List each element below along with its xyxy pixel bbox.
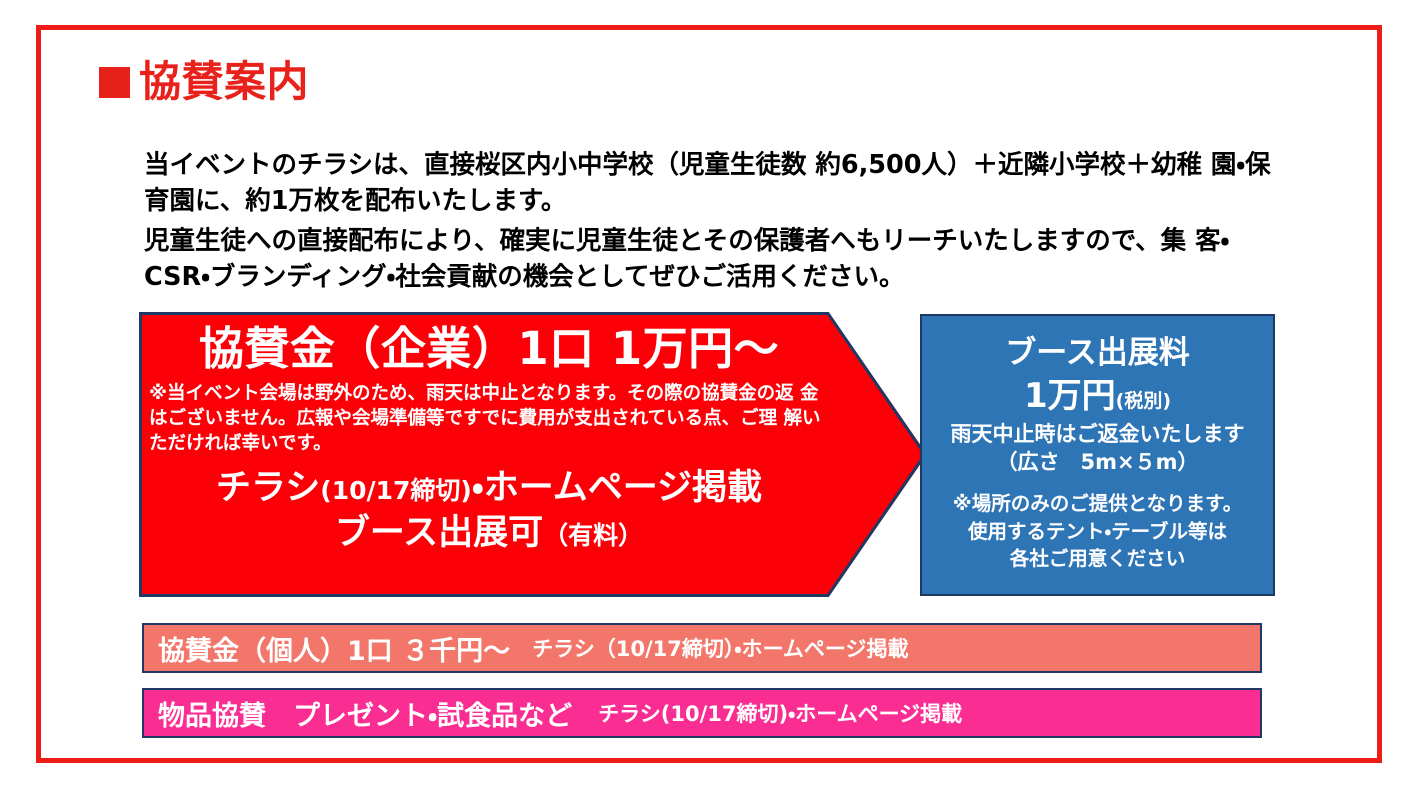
intro-text-block: 当イベントのチラシは、直接桜区内小中学校（児童生徒数 約6,500人）＋近隣小学… (144, 147, 1279, 295)
arrow-benefit-line-2: ブース出展可（有料） (139, 511, 839, 557)
tier-individual-sub: チラシ（10/17締切）・ホームページ掲載 (532, 633, 908, 663)
arrow-benefit-2-main: ブース出展可 (335, 513, 543, 553)
page-title-text: 協賛案内 (139, 61, 309, 103)
arrow-benefit-line-1: チラシ(10/17締切)・ホームページ掲載 (139, 466, 839, 512)
arrow-title: 協賛金（企業）1口 1万円〜 (139, 322, 839, 377)
booth-note-line-1: ※場所のみのご提供となります。 (922, 490, 1273, 518)
arrow-benefit-2-fee: （有料） (543, 521, 643, 550)
page-title: 協賛案内 (99, 61, 309, 103)
arrow-benefit-1-main: チラシ (216, 468, 320, 508)
tier-goods-sub: チラシ(10/17締切)・ホームページ掲載 (598, 698, 962, 728)
arrow-benefit-1-deadline: (10/17締切) (320, 476, 472, 505)
booth-size-note: （広さ 5m×５m） (922, 449, 1273, 476)
booth-note-line-3: 各社ご用意ください (922, 545, 1273, 573)
tier-individual-main: 協賛金（個人）1口 ３千円〜 (158, 629, 510, 668)
booth-price-value: 1万円 (1024, 376, 1116, 416)
intro-p2-line1: 児童生徒への直接配布により、確実に児童生徒とその保護者へもリーチいたしますので、… (144, 226, 1186, 256)
booth-note-line-2: 使用するテント・テーブル等は (922, 518, 1273, 546)
tier-goods-main: 物品協賛 プレゼント・試食品など (158, 694, 572, 733)
tier-bar-individual-sponsorship: 協賛金（個人）1口 ３千円〜 チラシ（10/17締切）・ホームページ掲載 (142, 623, 1262, 673)
booth-refund-note: 雨天中止時はご返金いたします (922, 421, 1273, 448)
booth-title: ブース出展料 (922, 334, 1273, 373)
booth-equipment-note: ※場所のみのご提供となります。 使用するテント・テーブル等は 各社ご用意ください (922, 490, 1273, 573)
arrow-note-line-1: ※当イベント会場は野外のため、雨天は中止となります。その際の協賛金の返 (149, 383, 794, 404)
booth-price-tax-note: (税別) (1116, 390, 1171, 412)
arrow-benefit-1-tail: ・ホームページ掲載 (472, 468, 762, 508)
square-bullet-icon (99, 67, 130, 98)
intro-paragraph-1: 当イベントのチラシは、直接桜区内小中学校（児童生徒数 約6,500人）＋近隣小学… (144, 147, 1279, 219)
booth-price: 1万円(税別) (922, 375, 1273, 418)
corporate-sponsorship-arrow-banner: 協賛金（企業）1口 1万円〜 ※当イベント会場は野外のため、雨天は中止となります… (139, 312, 927, 597)
arrow-content: 協賛金（企業）1口 1万円〜 ※当イベント会場は野外のため、雨天は中止となります… (139, 312, 839, 597)
arrow-rain-note: ※当イベント会場は野外のため、雨天は中止となります。その際の協賛金の返 金はござ… (139, 381, 839, 456)
tier-bar-goods-sponsorship: 物品協賛 プレゼント・試食品など チラシ(10/17締切)・ホームページ掲載 (142, 688, 1262, 738)
intro-paragraph-2: 児童生徒への直接配布により、確実に児童生徒とその保護者へもリーチいたしますので、… (144, 223, 1279, 295)
booth-fee-box: ブース出展料 1万円(税別) 雨天中止時はご返金いたします （広さ 5m×５m）… (920, 314, 1275, 596)
intro-p1-line1: 当イベントのチラシは、直接桜区内小中学校（児童生徒数 約6,500人）＋近隣小学… (144, 150, 1202, 180)
